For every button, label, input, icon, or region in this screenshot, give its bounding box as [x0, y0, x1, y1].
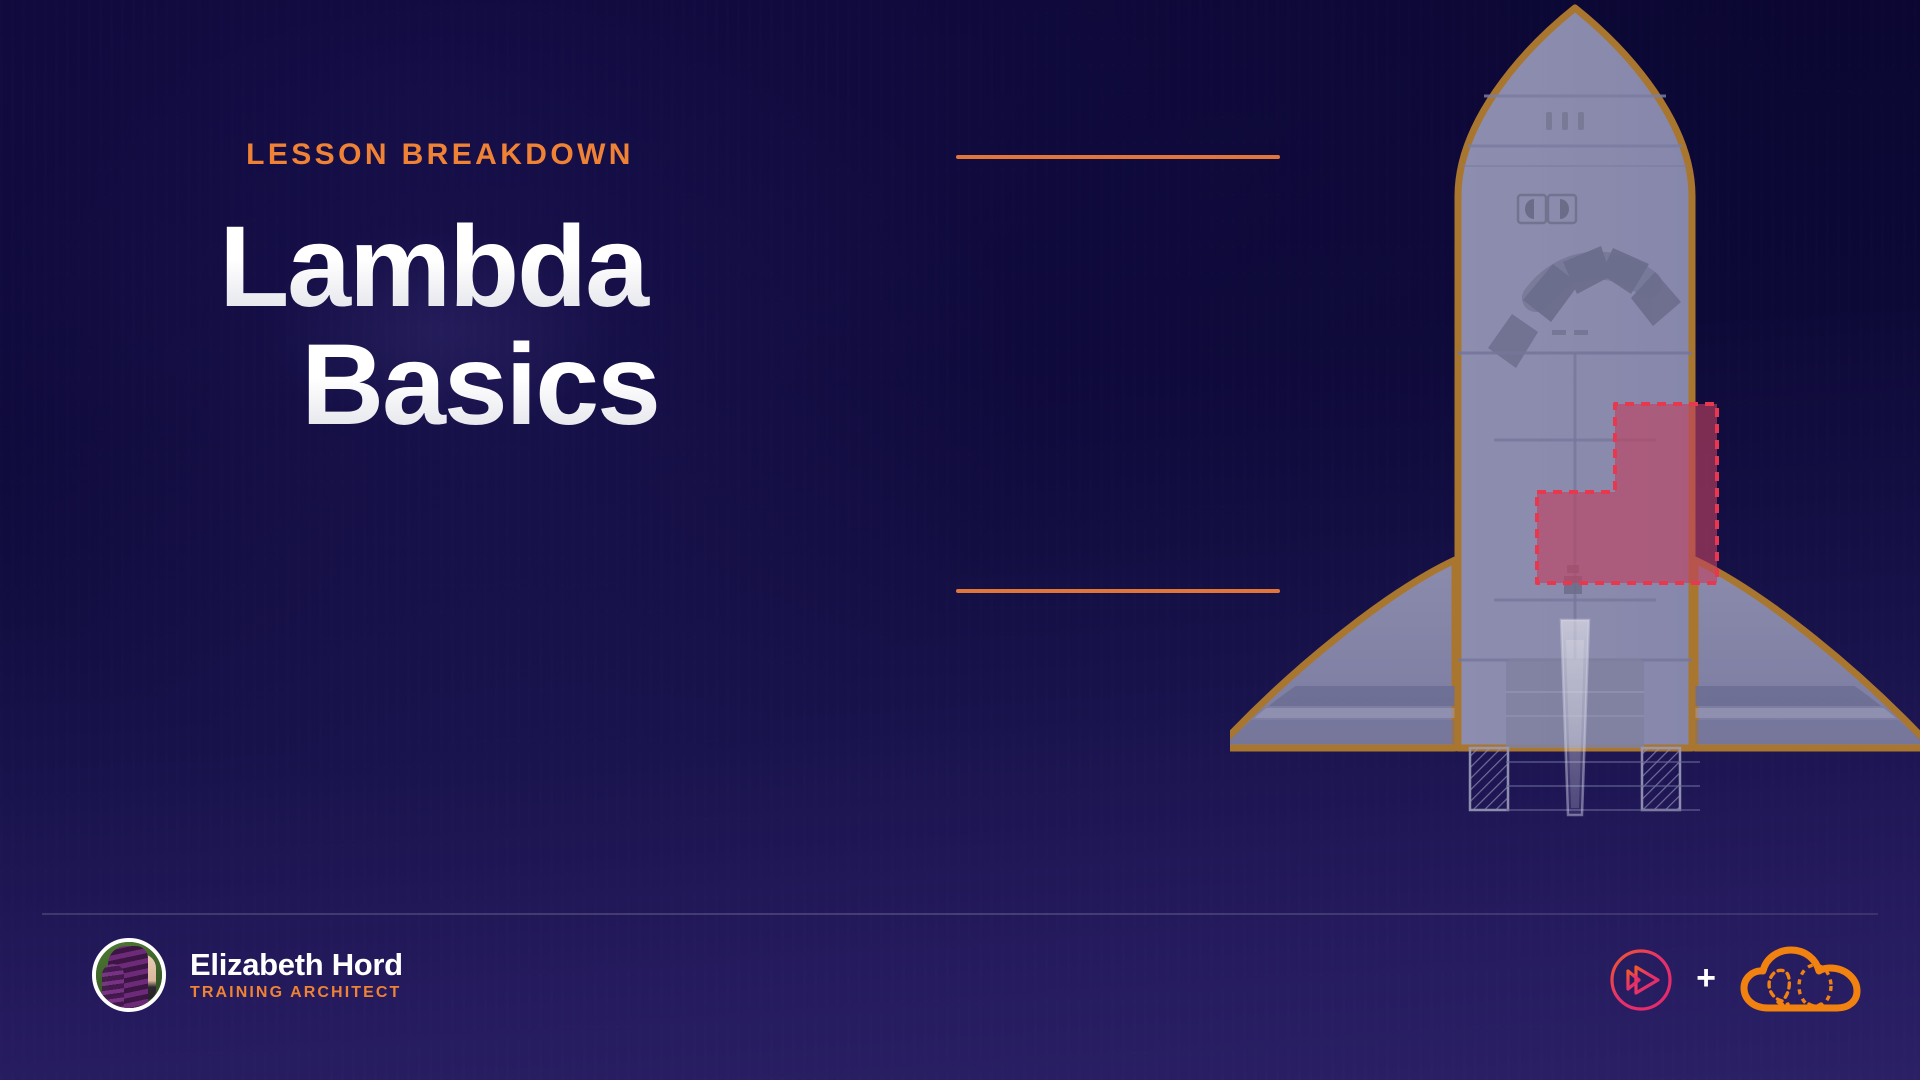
presenter-name: Elizabeth Hord: [190, 949, 403, 980]
footer-bar: Elizabeth Hord TRAINING ARCHITECT: [0, 930, 1920, 1040]
brand-lockup: +: [1608, 944, 1864, 1016]
a-cloud-guru-cloud-icon: [1738, 944, 1864, 1016]
footer-divider: [42, 913, 1878, 915]
presenter-role: TRAINING ARCHITECT: [190, 985, 403, 1001]
rocket-illustration: [1230, 0, 1920, 830]
presenter-text: Elizabeth Hord TRAINING ARCHITECT: [190, 949, 403, 1001]
plus-icon: +: [1696, 961, 1716, 999]
presenter-block: Elizabeth Hord TRAINING ARCHITECT: [92, 938, 403, 1012]
avatar-hair-strand: [102, 964, 124, 1012]
slide-canvas: LESSON BREAKDOWN Lambda Basics Elizabeth…: [0, 0, 1920, 1080]
avatar: [92, 938, 166, 1012]
eyebrow-label: LESSON BREAKDOWN: [0, 138, 880, 172]
page-title: Lambda Basics: [0, 208, 880, 445]
title-line-one: Lambda: [0, 208, 880, 326]
title-line-two: Basics: [0, 326, 880, 444]
pluralsight-play-logo-icon: [1608, 947, 1674, 1013]
slide-copy: LESSON BREAKDOWN Lambda Basics: [0, 138, 880, 445]
